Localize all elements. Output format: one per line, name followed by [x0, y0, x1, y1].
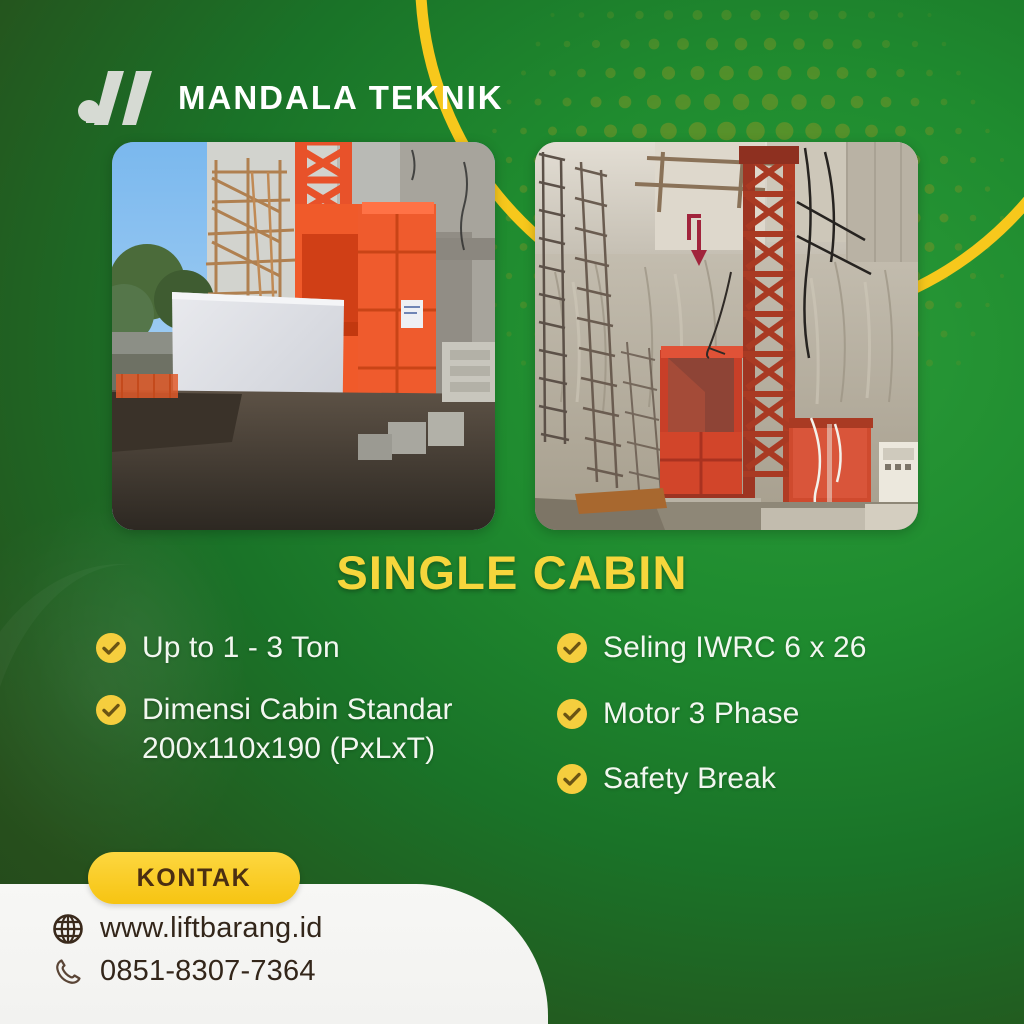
phone-text: 0851-8307-7364 — [100, 955, 316, 988]
feature-label: Up to 1 - 3 Ton — [142, 628, 340, 668]
brand-header: MANDALA TEKNIK — [78, 62, 504, 134]
feature-label: Dimensi Cabin Standar 200x110x190 (PxLxT… — [142, 690, 515, 769]
feature-item: Dimensi Cabin Standar 200x110x190 (PxLxT… — [96, 690, 515, 769]
feature-label: Motor 3 Phase — [603, 694, 799, 734]
check-circle-icon — [557, 633, 587, 663]
contact-website[interactable]: www.liftbarang.id — [52, 912, 323, 945]
feature-item: Up to 1 - 3 Ton — [96, 628, 515, 668]
mandala-m-logo-icon — [78, 67, 162, 129]
photo-left — [112, 142, 495, 530]
check-circle-icon — [557, 699, 587, 729]
phone-icon — [52, 956, 84, 988]
check-circle-icon — [557, 764, 587, 794]
check-circle-icon — [96, 695, 126, 725]
contact-footer-panel — [0, 884, 548, 1024]
poster-canvas: MANDALA TEKNIK — [0, 0, 1024, 1024]
kontak-badge: KONTAK — [88, 852, 300, 904]
page-title: SINGLE CABIN — [0, 545, 1024, 600]
feature-item: Seling IWRC 6 x 26 — [557, 628, 976, 668]
globe-icon — [52, 913, 84, 945]
feature-item: Motor 3 Phase — [557, 694, 976, 734]
feature-column-left: Up to 1 - 3 Ton Dimensi Cabin Standar 20… — [96, 628, 515, 825]
brand-name: MANDALA TEKNIK — [178, 79, 504, 117]
feature-list: Up to 1 - 3 Ton Dimensi Cabin Standar 20… — [96, 628, 976, 825]
photo-right — [535, 142, 918, 530]
feature-item: Safety Break — [557, 759, 976, 799]
check-circle-icon — [96, 633, 126, 663]
feature-column-right: Seling IWRC 6 x 26 Motor 3 Phase Safety … — [557, 628, 976, 825]
photo-gallery — [112, 142, 918, 530]
kontak-badge-label: KONTAK — [137, 864, 252, 893]
feature-label: Seling IWRC 6 x 26 — [603, 628, 867, 668]
feature-label: Safety Break — [603, 759, 776, 799]
website-text: www.liftbarang.id — [100, 912, 323, 945]
contact-phone[interactable]: 0851-8307-7364 — [52, 955, 316, 988]
